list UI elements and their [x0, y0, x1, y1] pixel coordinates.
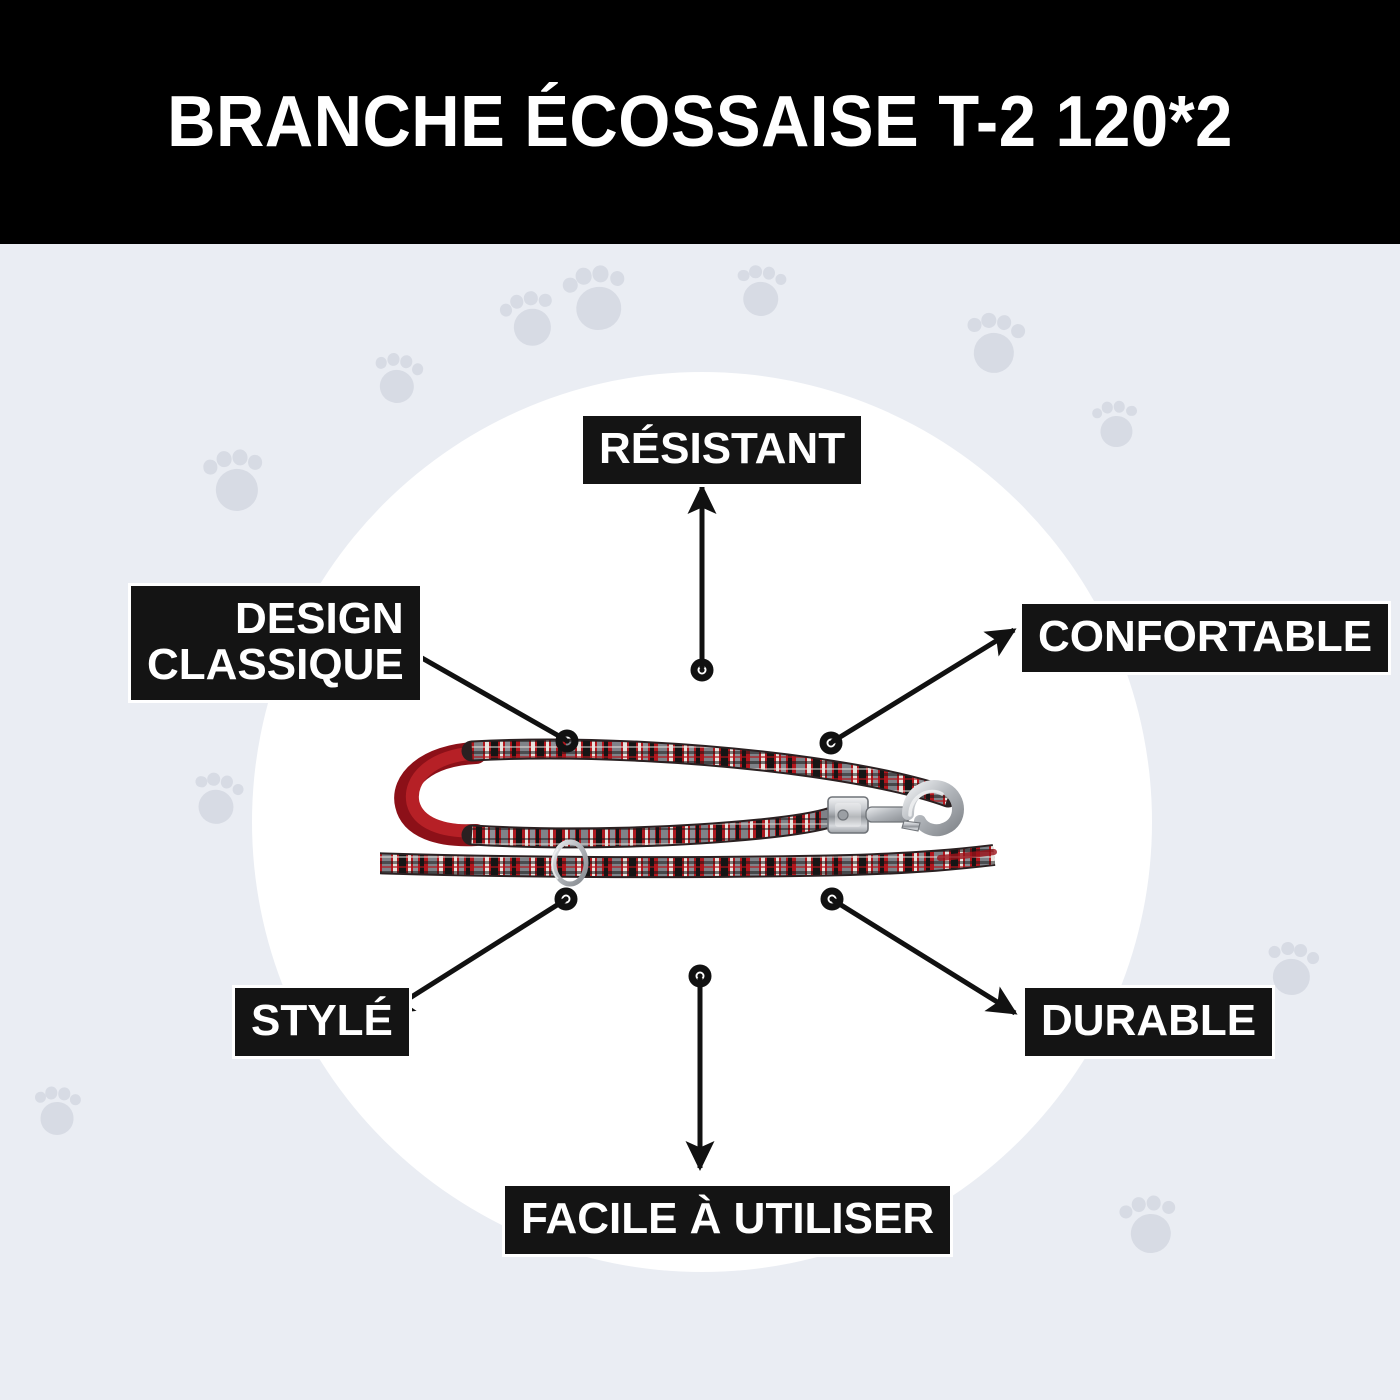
paw-print-icon — [201, 443, 272, 520]
paw-print-icon — [732, 260, 791, 325]
feature-label-facile-a-utiliser: FACILE À UTILISER — [502, 1183, 953, 1257]
snap-hook-clasp — [828, 786, 958, 833]
feature-label-style: STYLÉ — [232, 985, 412, 1059]
product-leash-image — [380, 715, 1000, 915]
paw-print-icon — [368, 347, 429, 413]
paw-print-icon — [1090, 396, 1142, 453]
paw-print-icon — [1117, 1189, 1184, 1262]
paw-print-icon — [960, 306, 1031, 383]
header-band: BRANCHE ÉCOSSAISE T-2 120*2 — [0, 0, 1400, 244]
infographic-canvas: BRANCHE ÉCOSSAISE T-2 120*2 RÉSISTANT DE… — [0, 0, 1400, 1400]
paw-print-icon — [31, 1082, 85, 1141]
feature-label-resistant: RÉSISTANT — [580, 413, 864, 487]
feature-label-confortable: CONFORTABLE — [1019, 601, 1391, 675]
feature-label-design-classique: DESIGN CLASSIQUE — [128, 583, 423, 703]
paw-print-icon — [560, 257, 637, 340]
feature-label-durable: DURABLE — [1022, 985, 1275, 1059]
page-title: BRANCHE ÉCOSSAISE T-2 120*2 — [49, 0, 1351, 244]
paw-print-icon — [495, 282, 565, 357]
paw-print-icon — [186, 765, 251, 834]
